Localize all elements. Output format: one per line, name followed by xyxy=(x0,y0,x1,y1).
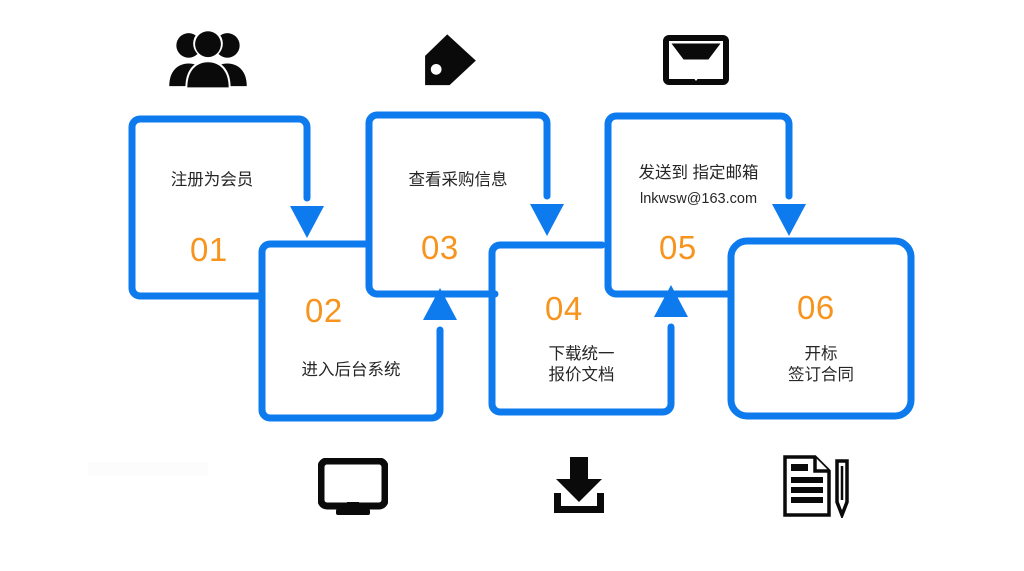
step-box-02 xyxy=(262,244,440,418)
arrow-03-to-04 xyxy=(530,204,564,236)
users-group-icon xyxy=(166,28,250,90)
step-box-01 xyxy=(132,119,307,296)
download-icon xyxy=(548,455,610,517)
step-box-06 xyxy=(731,241,911,416)
step-box-04 xyxy=(492,245,671,412)
envelope-icon xyxy=(662,33,730,87)
price-tag-icon xyxy=(418,32,480,88)
document-pen-icon xyxy=(782,454,852,518)
monitor-icon xyxy=(318,458,388,516)
arrow-01-to-02 xyxy=(290,206,324,238)
step-box-03 xyxy=(369,115,547,294)
flow-shapes xyxy=(0,0,1024,571)
arrow-05-to-06 xyxy=(772,204,806,236)
arrow-04-to-05 xyxy=(654,285,688,317)
diagram-canvas: 01 02 03 04 05 06 注册为会员 进入后台系统 查看采购信息 下载… xyxy=(0,0,1024,571)
step-box-05 xyxy=(608,116,789,294)
